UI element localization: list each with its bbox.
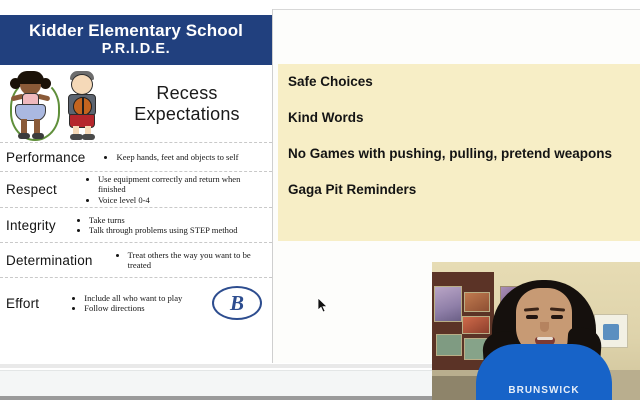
slide-title-line-2: Expectations xyxy=(108,104,266,125)
school-name: Kidder Elementary School xyxy=(29,22,243,40)
note-safe-choices: Safe Choices xyxy=(288,74,640,91)
school-header-banner: Kidder Elementary School P.R.I.D.E. xyxy=(0,15,272,65)
webcam-bookcase-item-1 xyxy=(434,286,462,322)
webcam-bookcase-item-2 xyxy=(464,292,490,312)
list-item: Use equipment correctly and return when … xyxy=(98,174,268,195)
table-row-integrity: Integrity Take turns Talk through proble… xyxy=(0,208,272,243)
row-items-determination: Treat others the way you want to be trea… xyxy=(99,250,268,271)
list-item: Follow directions xyxy=(84,303,208,313)
webcam-person-eye-right xyxy=(551,315,563,319)
row-label-performance: Performance xyxy=(6,150,91,165)
girl-jumping-rope-illustration xyxy=(8,71,56,141)
webcam-bookcase-item-4 xyxy=(436,334,462,356)
note-no-games: No Games with pushing, pulling, pretend … xyxy=(288,146,640,163)
row-items-respect: Use equipment correctly and return when … xyxy=(63,174,268,205)
presentation-stage: Kidder Elementary School P.R.I.D.E. xyxy=(0,0,640,400)
webcam-person-eye-left xyxy=(526,315,538,319)
slide-title: Recess Expectations xyxy=(108,83,272,125)
webcam-bookcase-item-3 xyxy=(462,316,490,334)
table-row-performance: Performance Keep hands, feet and objects… xyxy=(0,143,272,172)
girl-leg-left xyxy=(21,119,27,134)
bottom-divider-upper xyxy=(0,364,432,368)
boy-shoe-right xyxy=(82,134,95,140)
girl-leg-right xyxy=(34,119,40,134)
girl-skirt xyxy=(15,104,46,121)
row-items-integrity: Take turns Talk through problems using S… xyxy=(62,215,268,236)
pride-acronym: P.R.I.D.E. xyxy=(102,41,171,58)
recess-notes-panel: Safe Choices Kind Words No Games with pu… xyxy=(278,64,640,241)
webcam-video-overlay[interactable]: BRUNSWICK xyxy=(432,262,640,400)
row-items-effort: Include all who want to play Follow dire… xyxy=(45,293,208,314)
recess-expectations-slide: Kidder Elementary School P.R.I.D.E. xyxy=(0,9,273,363)
row-label-respect: Respect xyxy=(6,182,63,197)
mouse-cursor-icon xyxy=(318,298,329,313)
basketball-icon xyxy=(73,97,92,116)
boy-head xyxy=(71,74,93,95)
list-item: Keep hands, feet and objects to self xyxy=(116,152,268,162)
list-item: Voice level 0-4 xyxy=(98,195,268,205)
boy-with-basketball-illustration xyxy=(60,71,104,141)
table-row-respect: Respect Use equipment correctly and retu… xyxy=(0,172,272,208)
list-item: Treat others the way you want to be trea… xyxy=(128,250,268,271)
webcam-person-nose xyxy=(540,322,549,332)
table-row-determination: Determination Treat others the way you w… xyxy=(0,243,272,278)
webcam-shirt-text: BRUNSWICK xyxy=(476,385,612,396)
bottom-toolbar-strip xyxy=(0,370,432,396)
girl-shoe-left xyxy=(18,133,30,139)
row-items-performance: Keep hands, feet and objects to self xyxy=(91,152,268,162)
list-item: Include all who want to play xyxy=(84,293,208,303)
brunswick-b-logo: B xyxy=(212,286,262,320)
list-item: Talk through problems using STEP method xyxy=(89,225,268,235)
list-item: Take turns xyxy=(89,215,268,225)
recess-children-clipart xyxy=(0,66,108,143)
row-label-effort: Effort xyxy=(6,296,45,311)
note-gaga-pit: Gaga Pit Reminders xyxy=(288,182,640,199)
slide-title-line-1: Recess xyxy=(108,83,266,104)
girl-shoe-right xyxy=(32,133,44,139)
row-label-determination: Determination xyxy=(6,253,99,268)
slide-title-band: Recess Expectations xyxy=(0,66,272,143)
bottom-divider-lower xyxy=(0,396,432,400)
table-row-effort: Effort Include all who want to play Foll… xyxy=(0,278,272,328)
girl-hair xyxy=(17,71,44,84)
row-label-integrity: Integrity xyxy=(6,218,62,233)
pride-expectations-table: Performance Keep hands, feet and objects… xyxy=(0,143,272,328)
note-kind-words: Kind Words xyxy=(288,110,640,127)
